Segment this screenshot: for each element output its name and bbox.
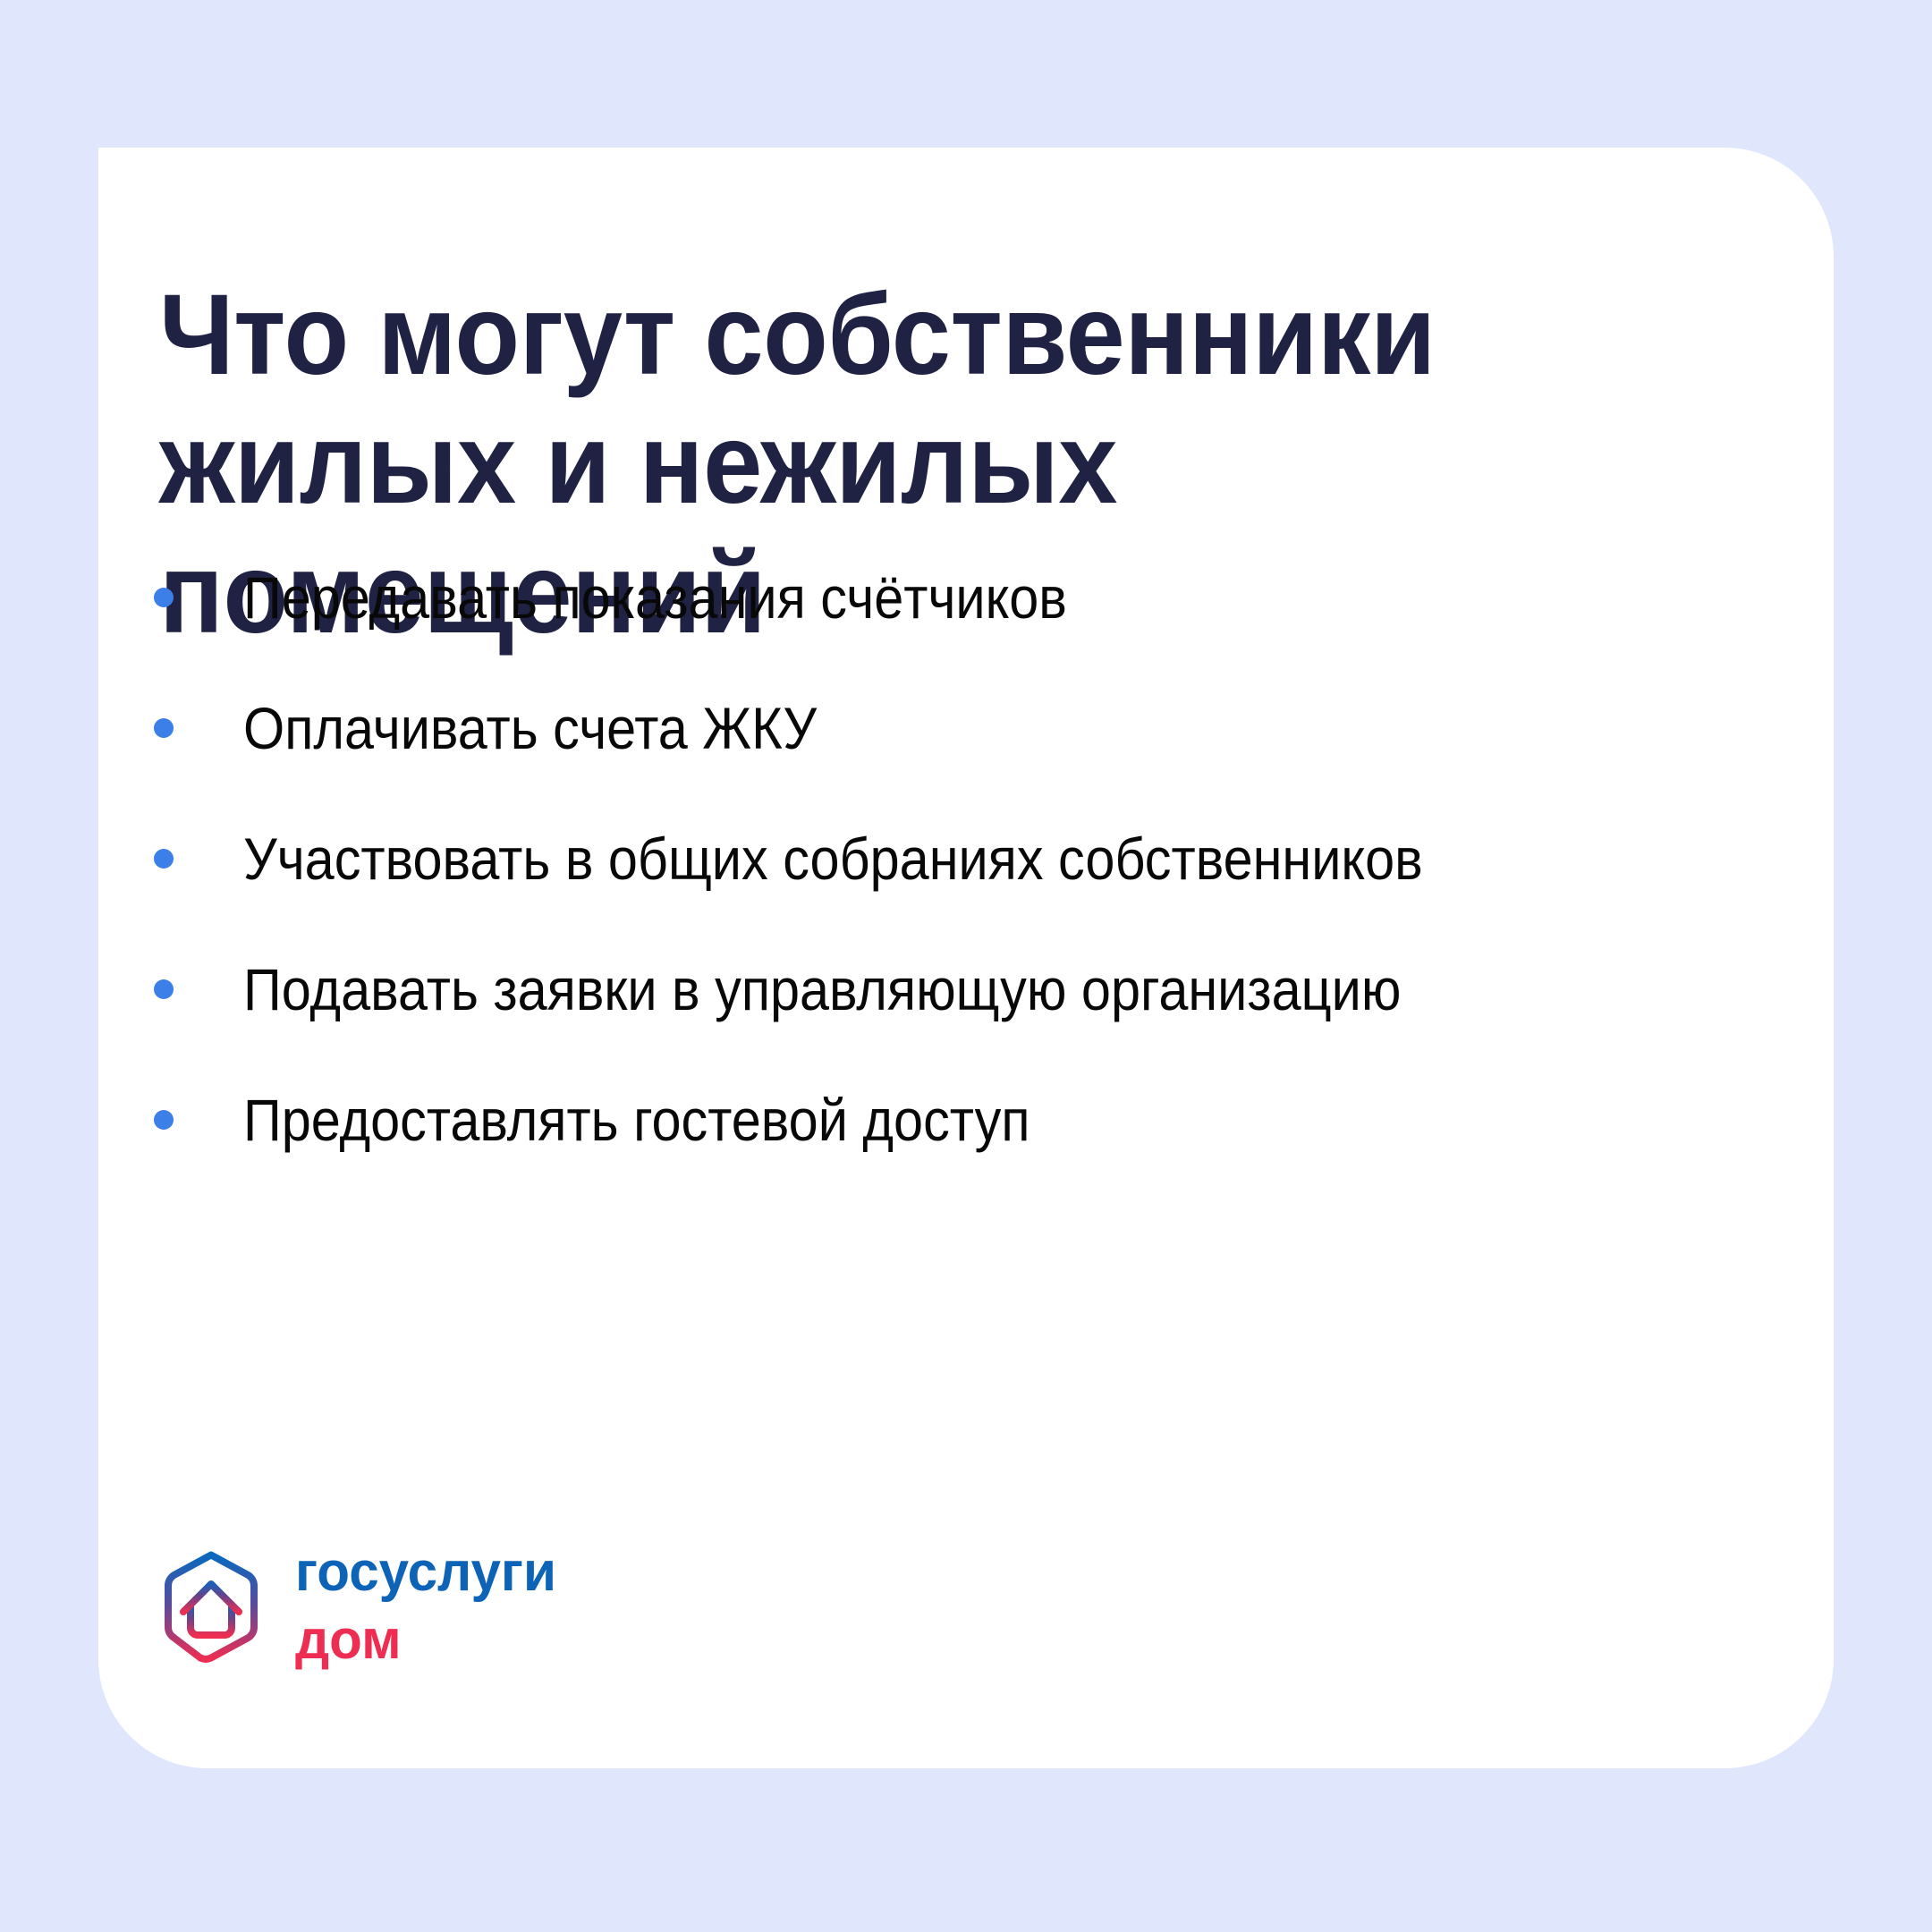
poster-canvas: Что могут собственники жилых и нежилых п… [0,0,1932,1932]
list-item: Оплачивать счета ЖКУ [98,663,1834,793]
brand-word-dom: дом [295,1613,556,1668]
bullet-dot-icon [154,718,174,738]
bullet-dot-icon [154,979,174,999]
bullet-dot-icon [154,1110,174,1130]
list-item: Подавать заявки в управляющую организаци… [98,924,1834,1055]
list-item-label: Передавать показания счётчиков [243,565,1067,631]
list-item: Участвовать в общих собраниях собственни… [98,793,1834,924]
capabilities-list: Передавать показания счётчиков Оплачиват… [98,532,1834,1185]
bullet-dot-icon [154,849,174,869]
list-item-label: Предоставлять гостевой доступ [243,1088,1030,1153]
list-item-label: Участвовать в общих собраниях собственни… [243,826,1423,892]
brand-word-gosuslugi: госуслуги [295,1545,556,1600]
list-item-label: Подавать заявки в управляющую организаци… [243,957,1401,1022]
brand-wordmark: госуслуги дом [295,1545,564,1668]
list-item-label: Оплачивать счета ЖКУ [243,696,817,761]
house-hexagon-icon [154,1549,268,1664]
brand-logo: госуслуги дом [154,1545,564,1668]
bullet-dot-icon [154,588,174,607]
list-item: Передавать показания счётчиков [98,532,1834,663]
content-card: Что могут собственники жилых и нежилых п… [98,148,1834,1768]
list-item: Предоставлять гостевой доступ [98,1055,1834,1185]
